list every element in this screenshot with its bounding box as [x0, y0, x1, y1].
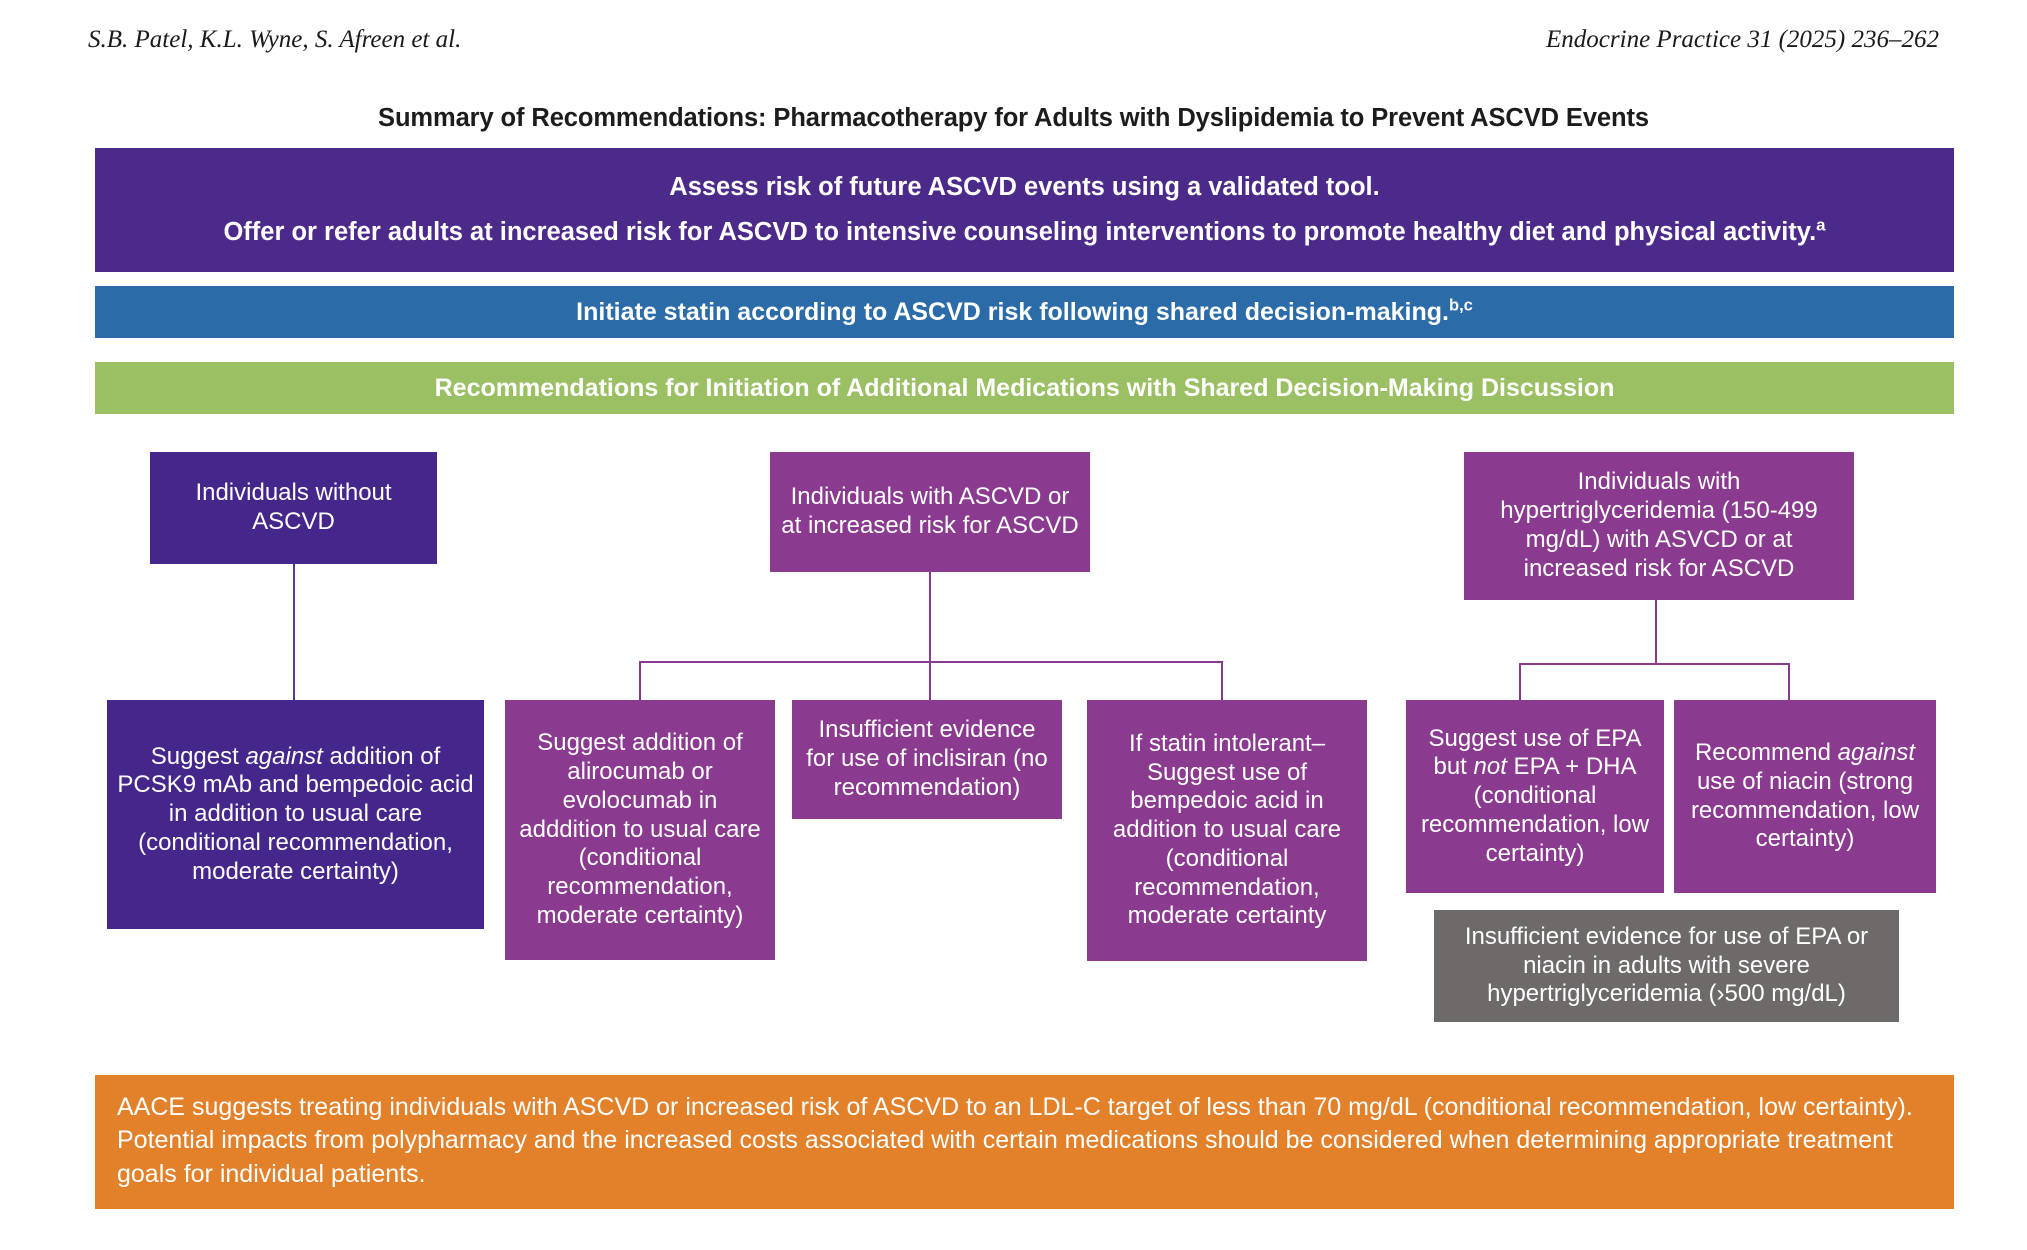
connector-right-bar: [1519, 663, 1790, 665]
banner-additional-medications: Recommendations for Initiation of Additi…: [95, 362, 1954, 414]
node-niacin-text-post: use of niacin (strong recommendation, lo…: [1691, 768, 1919, 853]
footnote-marker-bc: b,c: [1449, 296, 1473, 314]
connector-middle-drop-center: [929, 661, 931, 700]
node-niacin-emphasis: against: [1838, 739, 1915, 766]
figure-title: Summary of Recommendations: Pharmacother…: [0, 104, 2027, 133]
node-niacin-text-pre: Recommend: [1695, 739, 1838, 766]
running-head-journal: Endocrine Practice 31 (2025) 236–262: [1546, 26, 1939, 54]
node-individuals-hypertriglyceridemia: Individuals with hypertriglyceridemia (1…: [1464, 452, 1854, 600]
connector-middle-drop-left: [639, 661, 641, 700]
node-suggest-against-pcsk9: Suggest against addition of PCSK9 mAb an…: [107, 700, 484, 929]
footer-ldl-target-note: AACE suggests treating individuals with …: [95, 1075, 1954, 1209]
connector-middle-bar: [639, 661, 1223, 663]
footnote-marker-a: a: [1816, 216, 1825, 235]
banner-initiate-statin: Initiate statin according to ASCVD risk …: [95, 286, 1954, 338]
connector-middle-drop-right: [1221, 661, 1223, 700]
connector-right-stem: [1655, 600, 1657, 664]
banner-assess-risk: Assess risk of future ASCVD events using…: [95, 148, 1954, 272]
connector-right-drop-left: [1519, 663, 1521, 700]
running-head-authors: S.B. Patel, K.L. Wyne, S. Afreen et al.: [88, 26, 461, 54]
node-statin-intolerant-bempedoic-acid: If statin intolerant–Suggest use of bemp…: [1087, 700, 1367, 961]
node-epa-emphasis: not: [1474, 753, 1507, 780]
connector-left-stem: [293, 564, 295, 700]
node-pcsk9-emphasis: against: [245, 743, 322, 770]
banner-assess-line-2: Offer or refer adults at increased risk …: [223, 218, 1825, 247]
node-individuals-with-ascvd: Individuals with ASCVD or at increased r…: [770, 452, 1090, 572]
node-suggest-alirocumab-evolocumab: Suggest addition of alirocumab or evoloc…: [505, 700, 775, 960]
banner-statin-line: Initiate statin according to ASCVD risk …: [576, 298, 1473, 327]
node-insufficient-evidence-inclisiran: Insufficient evidence for use of inclisi…: [792, 700, 1062, 819]
connector-right-drop-right: [1788, 663, 1790, 700]
node-insufficient-evidence-severe-hypertriglyceridemia: Insufficient evidence for use of EPA or …: [1434, 910, 1899, 1022]
node-individuals-without-ascvd: Individuals without ASCVD: [150, 452, 437, 564]
banner-assess-line-2-text: Offer or refer adults at increased risk …: [223, 218, 1816, 246]
banner-statin-text: Initiate statin according to ASCVD risk …: [576, 298, 1449, 326]
connector-middle-stem: [929, 572, 931, 662]
node-suggest-epa-not-epa-dha: Suggest use of EPA but not EPA + DHA (co…: [1406, 700, 1664, 893]
banner-assess-line-1: Assess risk of future ASCVD events using…: [669, 173, 1379, 202]
node-recommend-against-niacin: Recommend against use of niacin (strong …: [1674, 700, 1936, 893]
node-pcsk9-text-pre: Suggest: [151, 743, 246, 770]
